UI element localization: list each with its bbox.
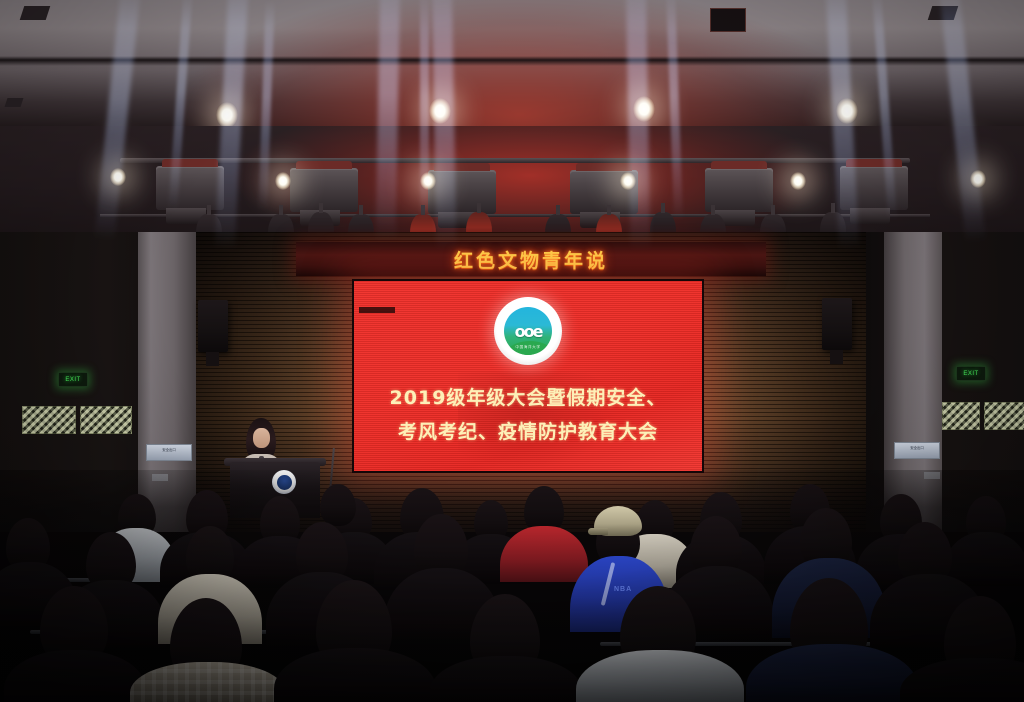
truss-spot-lamp (420, 172, 436, 190)
truss-lower-bar (100, 214, 930, 217)
audience-shoulders (430, 656, 582, 702)
par-light-fixture (428, 170, 496, 214)
slide-title-line-2: 考风考纪、疫情防护教育大会 (354, 415, 702, 449)
exit-sign-left: EXIT (58, 372, 88, 387)
beige-baseball-cap (594, 506, 642, 536)
school-emblem-subtext: 中国海洋大学 (504, 345, 552, 350)
slide-title-line-1: 2019级年级大会暨假期安全、 (354, 381, 702, 415)
truss-spot-lamp (620, 172, 636, 190)
stage-banner: 红色文物青年说 (296, 242, 766, 276)
wall-grille-left (80, 406, 132, 434)
wall-plaque-left-text: 安全出口 (147, 445, 191, 454)
truss-spot-lamp (790, 172, 806, 190)
audience-area: NBA (0, 470, 1024, 702)
audience-head (320, 484, 356, 526)
wall-plaque-right-text: 安全出口 (895, 443, 939, 452)
stage-banner-text: 红色文物青年说 (454, 246, 608, 273)
ceiling-fixture-left (5, 98, 24, 107)
truss-spot-lamp (110, 168, 126, 186)
exit-sign-label: EXIT (963, 371, 978, 377)
ceiling-spot-lamp (836, 98, 858, 124)
audience-shoulders (500, 526, 588, 582)
wall-grille-right (984, 402, 1024, 430)
wall-plaque-right: 安全出口 (894, 442, 940, 459)
ceiling-panel-right (928, 6, 959, 20)
wall-grille-left (22, 406, 76, 434)
presenter-face (253, 428, 270, 448)
audience-shoulders (900, 658, 1024, 702)
audience-shoulders-plaid (130, 662, 286, 702)
truss-bar (120, 158, 910, 163)
exit-sign-label: EXIT (65, 377, 80, 383)
ceiling-panel-left (20, 6, 51, 20)
school-emblem-logo: ooe 中国海洋大学 (494, 297, 562, 365)
led-screen-surface: ooe 中国海洋大学 2019级年级大会暨假期安全、 考风考纪、疫情防护教育大会 (354, 281, 702, 471)
ceiling-spot-lamp (633, 96, 655, 122)
school-emblem-inner: ooe 中国海洋大学 (504, 307, 552, 355)
led-screen-artifact (359, 307, 395, 313)
audience-shoulders (4, 650, 146, 702)
exit-sign-right: EXIT (956, 366, 986, 381)
truss-spot-lamp (970, 170, 986, 188)
ceiling-vent (710, 8, 746, 32)
par-light-fixture (156, 166, 224, 210)
audience-shoulders (746, 644, 918, 702)
truss-spot-lamp (275, 172, 291, 190)
par-light-fixture (840, 166, 908, 210)
audience-shoulders (274, 648, 436, 702)
ceiling-spot-lamp (216, 102, 238, 128)
slide-text-block: 2019级年级大会暨假期安全、 考风考纪、疫情防护教育大会 (354, 381, 702, 449)
par-light-fixture (290, 168, 358, 212)
loudspeaker-left (198, 300, 228, 352)
led-display-screen: ooe 中国海洋大学 2019级年级大会暨假期安全、 考风考纪、疫情防护教育大会 (352, 279, 704, 473)
loudspeaker-right (822, 298, 852, 350)
ceiling-dark-band (0, 56, 1024, 66)
wall-grille-right (942, 402, 980, 430)
jersey-text: NBA (614, 586, 632, 593)
par-light-fixture (705, 168, 773, 212)
ceiling-spot-lamp (429, 98, 451, 124)
auditorium-photo: EXIT 安全出口 EXIT 安全出口 红色文物青年说 ooe 中国海洋大学 (0, 0, 1024, 702)
wall-plaque-left: 安全出口 (146, 444, 192, 461)
audience-shoulders-white-shirt (576, 650, 744, 702)
school-emblem-mark: ooe (515, 322, 542, 341)
